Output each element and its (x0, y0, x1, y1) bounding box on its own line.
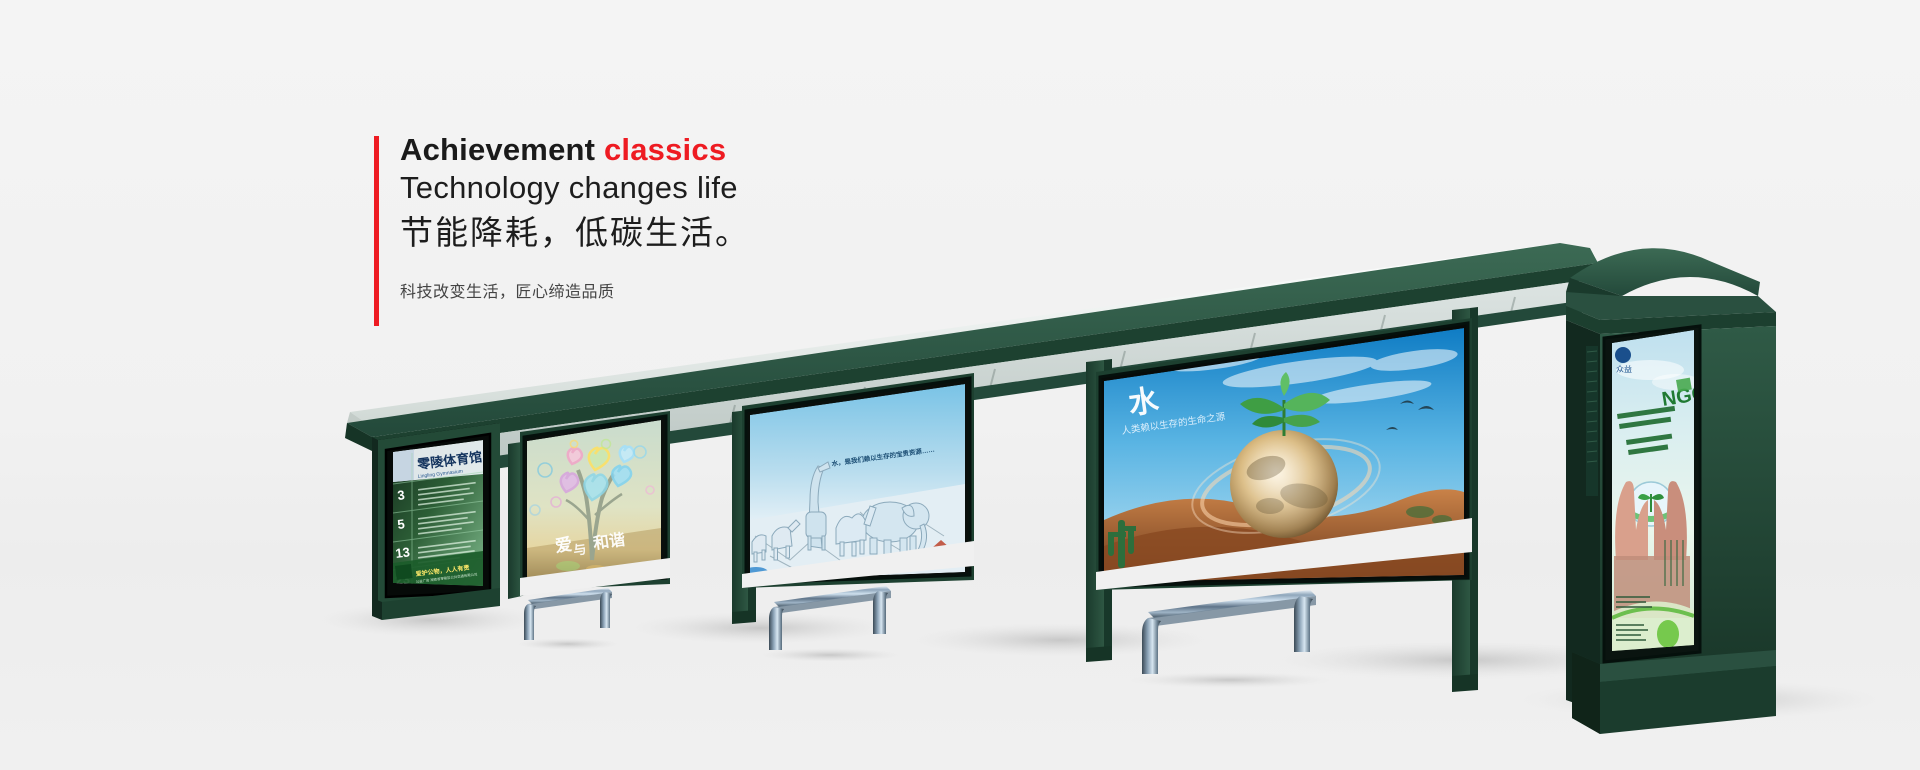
shelter-illustration: NGO (0, 0, 1920, 770)
svg-text:与: 与 (572, 541, 587, 558)
svg-text:水: 水 (1126, 384, 1161, 421)
ad-panel-water-animals[interactable]: 水，是我们赖以生存的宝贵资源…… (742, 373, 974, 588)
svg-text:13: 13 (395, 544, 411, 561)
bench-1[interactable] (516, 588, 620, 650)
pillar-plinth-left (1572, 652, 1600, 734)
svg-text:众益: 众益 (1616, 364, 1632, 374)
pillar-vent-grille (1586, 346, 1598, 496)
shadow-mid2 (910, 623, 1210, 657)
ad-panel-harmony[interactable]: 爱 与 和谐 (520, 411, 670, 596)
timetable-panel[interactable]: 零陵体育馆 Lingling Gymnasium 3 5 13 23 (372, 423, 500, 620)
poster-canvas: Achievement classics Technology changes … (0, 0, 1920, 770)
bus-stop-shelter: NGO (0, 0, 1920, 770)
shadow-mid1 (630, 612, 890, 644)
svg-text:爱: 爱 (554, 534, 574, 556)
